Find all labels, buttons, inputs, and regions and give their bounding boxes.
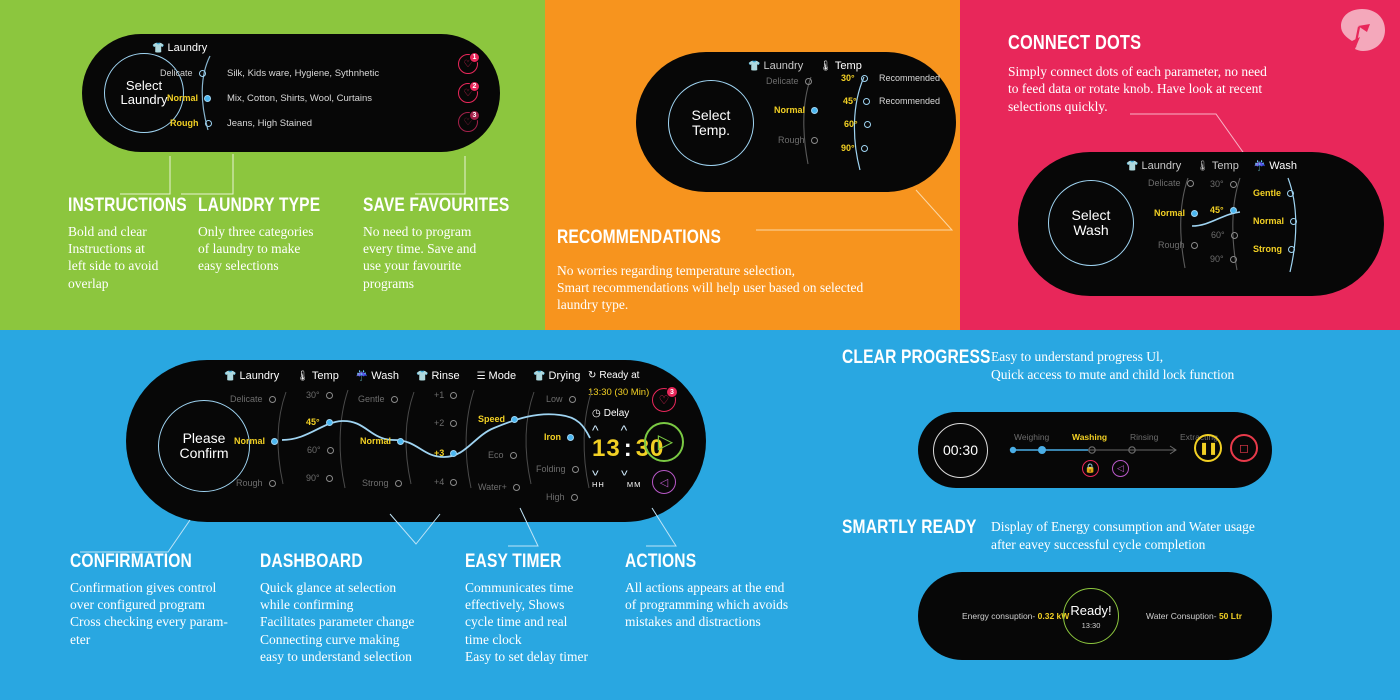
water-consumption-row: Water Consuption- 50 Ltr — [1146, 611, 1242, 621]
option-wash-strong[interactable]: Strong — [1253, 244, 1295, 254]
option-dot — [397, 438, 404, 445]
thermometer-icon: 🌡 — [819, 61, 832, 72]
option-delicate[interactable]: Delicate — [1148, 178, 1194, 188]
tab-laundry[interactable]: 👕 Laundry — [748, 60, 803, 72]
option-label: Speed — [478, 414, 505, 424]
option-label: 60° — [1211, 230, 1225, 240]
knob-line-2: Temp. — [692, 123, 730, 138]
option-dot — [861, 75, 868, 82]
tabbar-wash: 👕 Laundry 🌡 Temp ☔ Wash — [1126, 160, 1297, 172]
favourite-2-button[interactable]: ♡ 2 — [458, 83, 478, 103]
option-rinse-4[interactable]: +4 — [434, 477, 457, 487]
option-dot — [1288, 246, 1295, 253]
option-label: 30° — [1210, 179, 1224, 189]
tab-label: Laundry — [239, 370, 279, 382]
option-rinse-3[interactable]: +3 — [434, 448, 457, 458]
option-label: Normal — [1154, 208, 1185, 218]
tab-label: Wash — [1269, 160, 1297, 172]
favourite-button[interactable]: ♡ 3 — [652, 388, 676, 412]
device-please-confirm: Please Confirm 👕 Laundry 🌡 Temp ☔ Wash 👕… — [126, 360, 706, 522]
ready-text: Ready! — [1070, 603, 1111, 618]
tab-laundry[interactable]: 👕 Laundry — [1126, 160, 1181, 172]
column-laundry: Delicate Normal Rough Silk, Kids ware, H… — [82, 34, 500, 152]
drying-icon: 👕 — [533, 371, 545, 382]
mode-icon: ☰ — [477, 371, 486, 382]
option-dot — [805, 78, 812, 85]
caption-dashboard: DASHBOARD Quick glance at selection whil… — [260, 552, 455, 665]
tabbar-confirm: 👕 Laundry 🌡 Temp ☔ Wash 👕 Rinse ☰ Mode 👕… — [224, 370, 580, 382]
child-lock-icon: 🔒 — [1085, 463, 1096, 474]
caption-title: CONFIRMATION — [70, 552, 214, 572]
knob-line-2: Wash — [1073, 223, 1108, 238]
option-temp-60[interactable]: 60° — [844, 119, 871, 129]
option-label: 90° — [841, 143, 855, 153]
option-dot — [1187, 180, 1194, 187]
option-label: Normal — [360, 436, 391, 446]
option-dot — [513, 484, 520, 491]
option-dot — [510, 452, 517, 459]
option-dot — [1230, 256, 1237, 263]
option-label: Low — [546, 394, 563, 404]
option-dot — [391, 396, 398, 403]
option-dot — [511, 416, 518, 423]
tab-label: Temp — [312, 370, 339, 382]
progress-step-weighing[interactable]: Weighing — [1014, 432, 1049, 442]
option-label: Normal — [234, 436, 265, 446]
knob-line-1: Select — [692, 108, 731, 123]
option-dot — [861, 145, 868, 152]
caption-clear-progress-body: Easy to understand progress Ul, Quick ac… — [991, 348, 1391, 384]
knob-ready: Ready! 13:30 — [1063, 588, 1119, 644]
ready-at-value: 13:30 (30 Min) — [588, 387, 649, 398]
delay-label: Delay — [604, 408, 630, 419]
option-delicate[interactable]: Delicate — [766, 76, 812, 86]
tab-label: Rinse — [431, 370, 459, 382]
tab-label: Temp — [1212, 160, 1239, 172]
favourite-badge: 2 — [469, 81, 480, 92]
option-dot — [1287, 190, 1294, 197]
option-mode-eco[interactable]: Eco — [488, 450, 517, 460]
option-temp-60[interactable]: 60° — [1211, 230, 1238, 240]
option-temp-30[interactable]: 30° — [306, 390, 333, 400]
caption-title: ACTIONS — [625, 552, 781, 572]
refresh-icon: ↻ — [588, 370, 596, 381]
back-icon: ◁ — [660, 476, 668, 489]
caption-actions: ACTIONS All actions appears at the end o… — [625, 552, 815, 631]
option-dot — [450, 420, 457, 427]
energy-label: Energy consuption- — [962, 611, 1035, 621]
option-dot — [572, 466, 579, 473]
option-wash-normal[interactable]: Normal — [360, 436, 404, 446]
option-dot — [1230, 207, 1237, 214]
caption-title: RECOMMENDATIONS — [557, 228, 885, 248]
option-label: +4 — [434, 477, 444, 487]
thermometer-icon: 🌡 — [1196, 161, 1209, 172]
delay-hours[interactable]: 13 — [592, 435, 621, 463]
favourite-3-button[interactable]: ♡ 3 — [458, 112, 478, 132]
tab-label: Temp — [835, 60, 862, 72]
caption-title: SAVE FAVOURITES — [363, 196, 486, 216]
tab-rinse[interactable]: 👕 Rinse — [416, 370, 460, 382]
progress-step-washing[interactable]: Washing — [1072, 432, 1107, 442]
option-dot — [567, 434, 574, 441]
option-label: 60° — [844, 119, 858, 129]
mute-icon: ◁ — [1117, 463, 1124, 474]
option-wash-gentle[interactable]: Gentle — [1253, 188, 1294, 198]
tab-temp[interactable]: 🌡 Temp — [1196, 160, 1239, 172]
knob-elapsed-time: 00:30 — [933, 423, 988, 478]
option-dot — [395, 480, 402, 487]
shirt-icon: 👕 — [748, 61, 760, 72]
option-temp-45[interactable]: 45° — [843, 96, 870, 106]
caption-title: SMARTLY READY — [842, 518, 977, 538]
option-rough[interactable]: Rough — [236, 478, 276, 488]
option-rinse-2[interactable]: +2 — [434, 418, 457, 428]
option-dot — [569, 396, 576, 403]
option-label: Rough — [170, 118, 199, 128]
option-dot — [450, 479, 457, 486]
water-label: Water Consuption- — [1146, 611, 1217, 621]
caption-title: CLEAR PROGRESS — [842, 348, 991, 368]
caption-smartly-ready: SMARTLY READY — [842, 518, 1006, 538]
back-button[interactable]: ◁ — [652, 470, 676, 494]
tab-drying[interactable]: 👕 Drying — [533, 370, 580, 382]
tab-temp[interactable]: 🌡 Temp — [819, 60, 862, 72]
rinse-icon: 👕 — [416, 371, 428, 382]
delay-separator: : — [624, 435, 633, 463]
option-dot — [450, 392, 457, 399]
option-temp-90[interactable]: 90° — [1210, 254, 1237, 264]
option-label: 45° — [843, 96, 857, 106]
shirt-icon: 👕 — [224, 371, 236, 382]
option-dot — [269, 396, 276, 403]
caption-title: LAUNDRY TYPE — [198, 196, 313, 216]
ready-time: 13:30 — [1082, 621, 1101, 630]
option-label: 90° — [306, 473, 320, 483]
option-label: 30° — [841, 73, 855, 83]
option-dot — [204, 95, 211, 102]
clock-icon: ◷ — [592, 408, 601, 419]
tab-label: Drying — [549, 370, 581, 382]
option-rough[interactable]: Rough — [778, 135, 818, 145]
option-label: Delicate — [1148, 178, 1181, 188]
option-label: 90° — [1210, 254, 1224, 264]
favourite-badge: 3 — [666, 386, 678, 398]
caption-recommendations: RECOMMENDATIONS No worries regarding tem… — [557, 228, 957, 314]
option-label: 30° — [306, 390, 320, 400]
mute-button[interactable]: ◁ — [1112, 460, 1129, 477]
option-dot — [863, 98, 870, 105]
option-dot — [271, 438, 278, 445]
caption-title: INSTRUCTIONS — [68, 196, 175, 216]
option-drying-high[interactable]: High — [546, 492, 578, 502]
option-label: +3 — [434, 448, 444, 458]
caption-body: No worries regarding temperature selecti… — [557, 262, 957, 314]
option-dot — [1231, 232, 1238, 239]
tab-wash[interactable]: ☔ Wash — [356, 370, 399, 382]
option-normal[interactable]: Normal — [774, 105, 818, 115]
option-delicate[interactable]: Delicate — [230, 394, 276, 404]
option-wash-gentle[interactable]: Gentle — [358, 394, 398, 404]
tab-laundry[interactable]: 👕 Laundry — [224, 370, 279, 382]
option-delicate[interactable]: Delicate — [160, 68, 206, 78]
caption-connect-dots: CONNECT DOTS Simply connect dots of each… — [1008, 33, 1308, 115]
tab-label: Wash — [371, 370, 399, 382]
option-temp-30[interactable]: 30° — [1210, 179, 1237, 189]
option-drying-folding[interactable]: Folding — [536, 464, 579, 474]
caption-instructions: INSTRUCTIONS Bold and clear Instructions… — [68, 196, 198, 292]
option-label: High — [546, 492, 565, 502]
option-dot — [199, 70, 206, 77]
option-label: 45° — [1210, 205, 1224, 215]
caption-body: Bold and clear Instructions at left side… — [68, 223, 198, 292]
option-label: Rough — [778, 135, 805, 145]
option-label: 45° — [306, 417, 320, 427]
desc-delicate: Silk, Kids ware, Hygiene, Sythnhetic — [227, 68, 379, 79]
option-dot — [1191, 242, 1198, 249]
knob-select-temp[interactable]: Select Temp. — [668, 80, 754, 166]
hh-label: HH — [592, 480, 605, 489]
device-select-laundry: Select Laundry 👕 Laundry Delicate Normal — [82, 34, 500, 152]
option-normal[interactable]: Normal — [167, 93, 211, 103]
ready-at-label: Ready at — [599, 370, 639, 381]
option-label: Iron — [544, 432, 561, 442]
option-normal[interactable]: Normal — [234, 436, 278, 446]
ready-at-row: ↻ Ready at — [588, 370, 639, 381]
caption-body: Quick glance at selection while confirmi… — [260, 579, 455, 665]
caption-easy-timer: EASY TIMER Communicates time effectively… — [465, 552, 610, 665]
option-label: Strong — [362, 478, 389, 488]
option-dot — [811, 107, 818, 114]
option-dot — [326, 419, 333, 426]
option-temp-60[interactable]: 60° — [307, 445, 334, 455]
shirt-icon: 👕 — [1126, 161, 1138, 172]
option-dot — [326, 392, 333, 399]
hour-down-button[interactable]: ^ — [592, 464, 599, 478]
option-wash-normal[interactable]: Normal — [1253, 216, 1297, 226]
tab-wash[interactable]: ☔ Wash — [1254, 160, 1297, 172]
option-dot — [205, 120, 212, 127]
option-label: +1 — [434, 390, 444, 400]
tabbar-temp: 👕 Laundry 🌡 Temp — [748, 60, 862, 72]
device-ready: Energy consuption- 0.32 kW Water Consupt… — [918, 572, 1272, 660]
option-label: Normal — [167, 93, 198, 103]
option-label: Rough — [236, 478, 263, 488]
wash-icon: ☔ — [1254, 161, 1266, 172]
stop-button[interactable]: ◻ — [1230, 434, 1258, 462]
desc-normal: Mix, Cotton, Shirts, Wool, Curtains — [227, 93, 372, 104]
favourite-badge: 3 — [469, 110, 480, 121]
tab-label: Laundry — [763, 60, 803, 72]
caption-smartly-ready-body: Display of Energy consumption and Water … — [991, 518, 1391, 554]
tab-mode[interactable]: ☰ Mode — [477, 370, 517, 382]
option-label: Water+ — [478, 482, 507, 492]
option-temp-45[interactable]: 45° — [306, 417, 333, 427]
option-label: +2 — [434, 418, 444, 428]
minute-down-button[interactable]: ^ — [621, 464, 628, 478]
option-mode-speed[interactable]: Speed — [478, 414, 518, 424]
option-label: Normal — [774, 105, 805, 115]
option-temp-45[interactable]: 45° — [1210, 205, 1237, 215]
option-label: 60° — [307, 445, 321, 455]
elapsed-value: 00:30 — [943, 443, 978, 458]
option-drying-low[interactable]: Low — [546, 394, 576, 404]
caption-body: Simply connect dots of each parameter, n… — [1008, 63, 1308, 115]
pause-icon: ❚❚ — [1199, 441, 1217, 455]
option-dot — [811, 137, 818, 144]
option-mode-waterplus[interactable]: Water+ — [478, 482, 520, 492]
energy-consumption-row: Energy consuption- 0.32 kW — [962, 611, 1069, 621]
caption-body: Communicates time effectively, Shows cyc… — [465, 579, 610, 665]
tab-temp[interactable]: 🌡 Temp — [296, 370, 339, 382]
caption-title: DASHBOARD — [260, 552, 420, 572]
pause-button[interactable]: ❚❚ — [1194, 434, 1222, 462]
option-dot — [269, 480, 276, 487]
bird-logo — [1336, 6, 1388, 54]
child-lock-button[interactable]: 🔒 — [1082, 460, 1099, 477]
play-icon: ▷ — [658, 432, 673, 452]
poster-canvas: Select Laundry 👕 Laundry Delicate Normal — [0, 0, 1400, 700]
option-temp-90[interactable]: 90° — [306, 473, 333, 483]
caption-save-favourites: SAVE FAVOURITES No need to program every… — [363, 196, 513, 292]
play-button[interactable]: ▷ — [644, 422, 684, 462]
caption-title: CONNECT DOTS — [1008, 33, 1254, 54]
wash-icon: ☔ — [356, 371, 368, 382]
option-dot — [1191, 210, 1198, 217]
option-drying-iron[interactable]: Iron — [544, 432, 574, 442]
knob-line-1: Please — [183, 431, 226, 446]
option-label: Delicate — [160, 68, 193, 78]
option-label: Folding — [536, 464, 566, 474]
favourite-badge: 1 — [469, 52, 480, 63]
note-temp-30: Recommended — [879, 73, 940, 83]
stop-icon: ◻ — [1239, 441, 1249, 455]
option-dot — [1230, 181, 1237, 188]
option-rough[interactable]: Rough — [170, 118, 212, 128]
knob-select-wash[interactable]: Select Wash — [1048, 180, 1134, 266]
tab-label: Laundry — [1141, 160, 1181, 172]
caption-body: No need to program every time. Save and … — [363, 223, 513, 292]
option-label: Eco — [488, 450, 504, 460]
desc-rough: Jeans, High Stained — [227, 118, 312, 129]
option-dot — [571, 494, 578, 501]
progress-step-rinsing[interactable]: Rinsing — [1130, 432, 1158, 442]
option-dot — [326, 475, 333, 482]
caption-body: Only three categories of laundry to make… — [198, 223, 338, 275]
water-value: 50 Ltr — [1219, 611, 1242, 621]
caption-body: All actions appears at the end of progra… — [625, 579, 815, 631]
caption-body: Confirmation gives control over configur… — [70, 579, 245, 648]
knob-line-2: Confirm — [179, 446, 228, 461]
option-wash-strong[interactable]: Strong — [362, 478, 402, 488]
option-label: Rough — [1158, 240, 1185, 250]
option-dot — [864, 121, 871, 128]
caption-title: EASY TIMER — [465, 552, 584, 572]
device-select-temp: Select Temp. 👕 Laundry 🌡 Temp Delicate N… — [636, 52, 956, 192]
option-normal[interactable]: Normal — [1154, 208, 1198, 218]
note-temp-45: Recommended — [879, 96, 940, 106]
option-dot — [450, 450, 457, 457]
option-dot — [327, 447, 334, 454]
tab-label: Mode — [489, 370, 517, 382]
option-temp-90[interactable]: 90° — [841, 143, 868, 153]
option-temp-30[interactable]: 30° — [841, 73, 868, 83]
knob-line-1: Select — [1072, 208, 1111, 223]
option-label: Strong — [1253, 244, 1282, 254]
option-label: Delicate — [766, 76, 799, 86]
device-select-wash: Select Wash 👕 Laundry 🌡 Temp ☔ Wash — [1018, 152, 1384, 296]
option-dot — [1290, 218, 1297, 225]
favourite-1-button[interactable]: ♡ 1 — [458, 54, 478, 74]
mm-label: MM — [627, 480, 642, 489]
device-progress: 00:30 Weighing Washing Rinsing Extractin… — [918, 412, 1272, 488]
option-rough[interactable]: Rough — [1158, 240, 1198, 250]
option-label: Gentle — [1253, 188, 1281, 198]
caption-laundry-type: LAUNDRY TYPE Only three categories of la… — [198, 196, 338, 275]
option-label: Normal — [1253, 216, 1284, 226]
option-label: Delicate — [230, 394, 263, 404]
thermometer-icon: 🌡 — [296, 371, 309, 382]
caption-confirmation: CONFIRMATION Confirmation gives control … — [70, 552, 245, 648]
option-rinse-1[interactable]: +1 — [434, 390, 457, 400]
option-label: Gentle — [358, 394, 385, 404]
